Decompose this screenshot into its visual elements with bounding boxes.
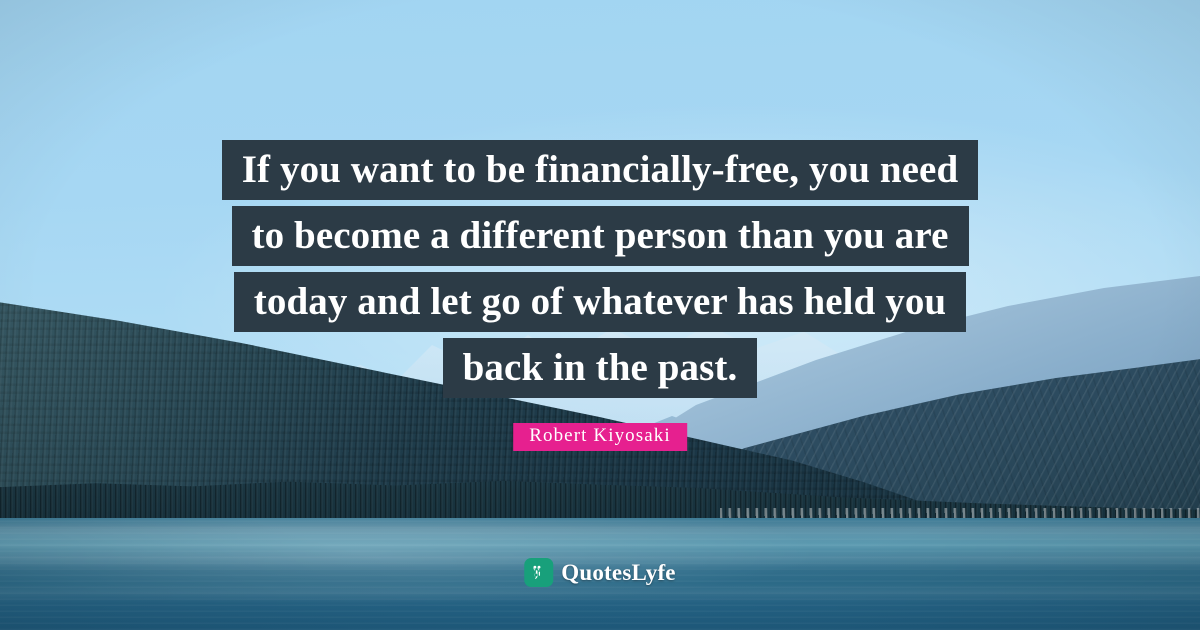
quote-line: If you want to be financially-free, you … [222, 140, 979, 200]
quote-line: to become a different person than you ar… [232, 206, 969, 266]
quote-image-canvas: If you want to be financially-free, you … [0, 0, 1200, 630]
quote-block: If you want to be financially-free, you … [0, 140, 1200, 398]
quote-mark-icon [524, 558, 553, 587]
brand-name: QuotesLyfe [561, 561, 675, 584]
quote-line: back in the past. [443, 338, 758, 398]
author-name-badge: Robert Kiyosaki [513, 423, 687, 451]
quote-line: today and let go of whatever has held yo… [234, 272, 966, 332]
brand-logo: QuotesLyfe [524, 558, 675, 587]
